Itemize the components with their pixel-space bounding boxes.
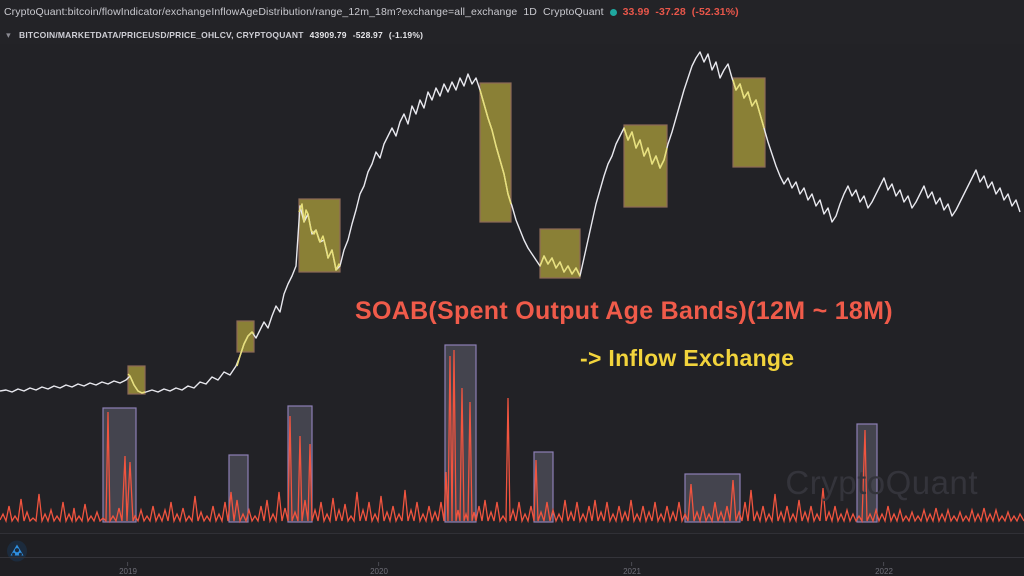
price-legend-row[interactable]: ▾ BITCOIN/MARKETDATA/PRICEUSD/PRICE_OHLC… [0,25,1024,45]
price-value: 43909.79 [310,30,347,40]
price-change-pct: (-1.19%) [389,30,423,40]
axis-tick-label: 2020 [370,567,388,576]
axis-tick: 2019 [119,562,137,576]
axis-tick: 2022 [875,562,893,576]
chart-application: CryptoQuant:bitcoin/flowIndicator/exchan… [0,0,1024,576]
annotation-soab: SOAB(Spent Output Age Bands)(12M ~ 18M) [355,297,893,326]
axis-tick: 2020 [370,562,388,576]
indicator-legend-row[interactable]: CryptoQuant:bitcoin/flowIndicator/exchan… [0,2,1024,22]
axis-tick-label: 2019 [119,567,137,576]
indicator-source[interactable]: CryptoQuant [543,6,604,18]
price-symbol[interactable]: BITCOIN/MARKETDATA/PRICEUSD/PRICE_OHLCV,… [19,30,304,40]
indicator-change-pct: (-52.31%) [692,6,739,18]
price-change: -528.97 [353,30,383,40]
chevron-down-icon[interactable]: ▾ [4,31,13,40]
axis-tick-label: 2022 [875,567,893,576]
status-dot-icon [610,9,617,16]
bottom-toolbar: 2019 2020 2021 2022 [0,533,1024,576]
price-highlight-band-2 [237,321,254,352]
indicator-value: 33.99 [623,6,650,18]
annotation-inflow: -> Inflow Exchange [580,345,794,372]
axis-tick-label: 2021 [623,567,641,576]
indicator-change: -37.28 [655,6,685,18]
indicator-timeframe[interactable]: 1D [523,6,537,18]
indicator-title[interactable]: CryptoQuant:bitcoin/flowIndicator/exchan… [4,6,517,18]
axis-tick: 2021 [623,562,641,576]
price-highlight-band-7 [733,78,765,167]
time-axis[interactable]: 2019 2020 2021 2022 [0,557,1024,576]
chart-plot-area[interactable] [0,44,1024,534]
